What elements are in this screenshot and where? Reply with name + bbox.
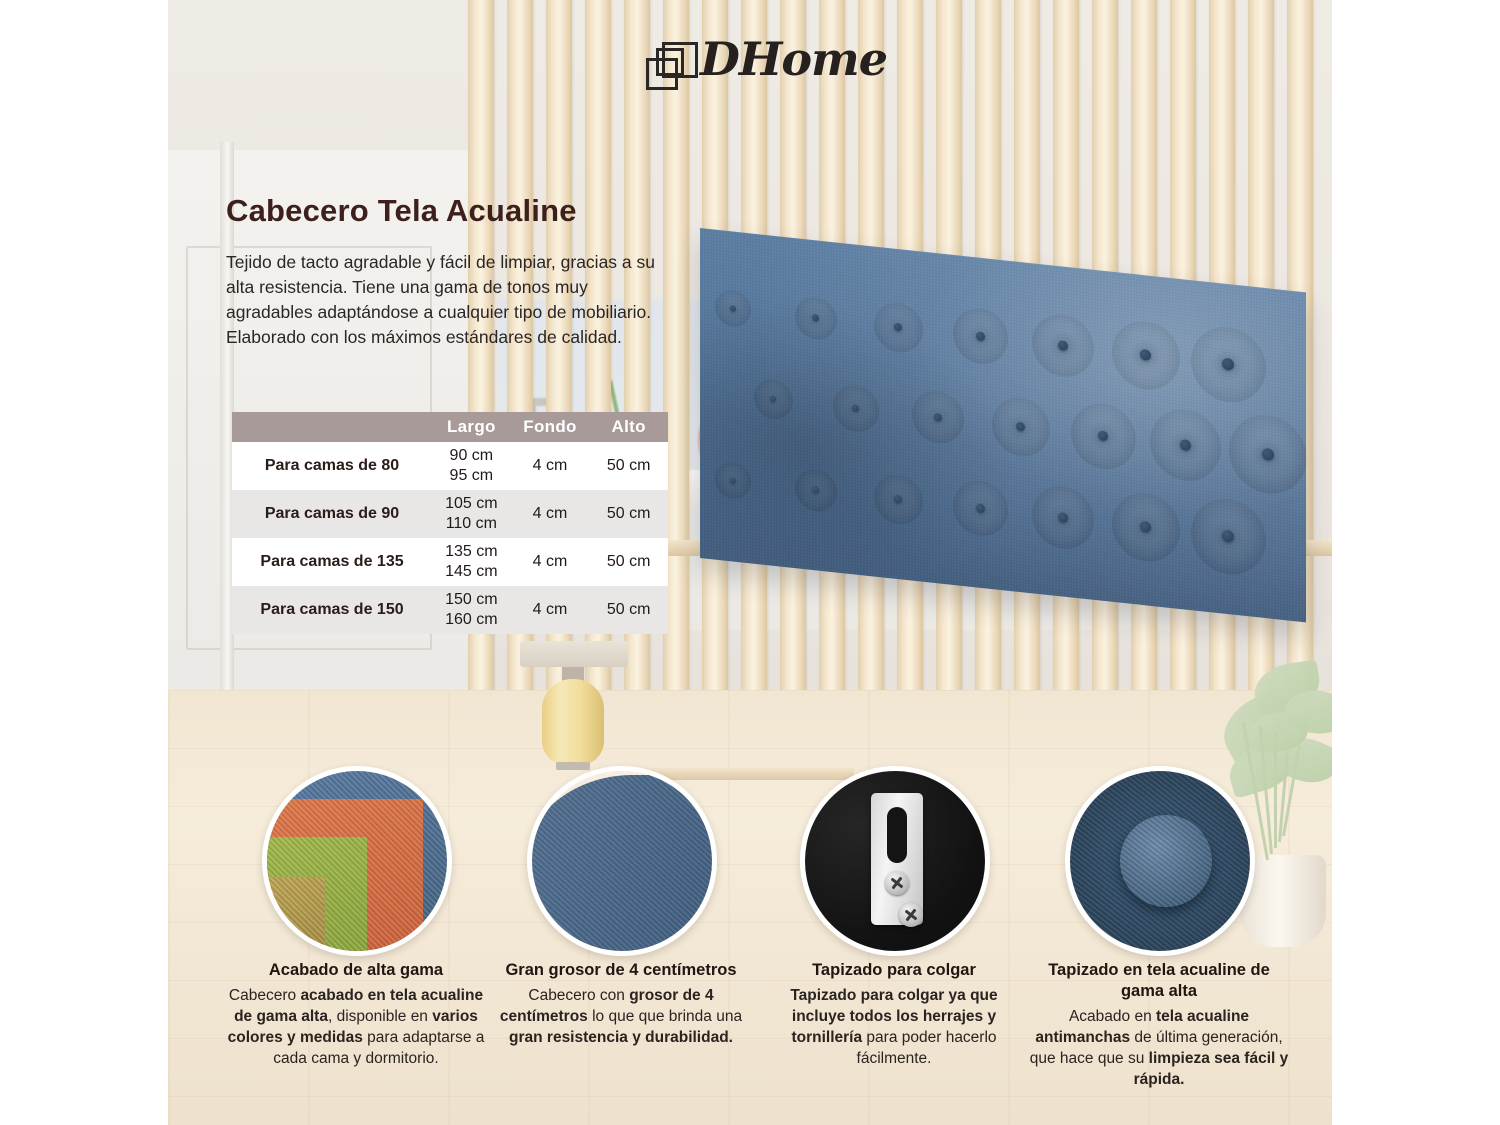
table-header-row: Largo Fondo Alto <box>232 412 668 442</box>
column-header-alto: Alto <box>589 412 668 442</box>
feature-image-3 <box>800 766 990 956</box>
table-row: Para camas de 8090 cm95 cm4 cm50 cm <box>232 442 668 490</box>
feature-body: Acabado en tela acualine antimanchas de … <box>1029 1006 1289 1090</box>
cell-largo: 135 cm145 cm <box>432 542 511 582</box>
cell-alto: 50 cm <box>589 456 668 476</box>
brand-name: DHome <box>700 32 887 86</box>
feature-image-4 <box>1065 766 1255 956</box>
upholstery-button <box>812 314 819 322</box>
upholstery-button <box>1222 357 1234 370</box>
table-row: Para camas de 135135 cm145 cm4 cm50 cm <box>232 538 668 586</box>
cell-alto: 50 cm <box>589 552 668 572</box>
plant-stem <box>1274 732 1277 848</box>
feature-heading: Tapizado para colgar <box>764 960 1024 981</box>
wall-bracket-icon <box>800 766 990 956</box>
feature-caption-4: Tapizado en tela acualine de gama alta A… <box>1029 960 1289 1090</box>
lamp-shade <box>520 641 628 667</box>
upholstery-button <box>730 305 736 312</box>
upholstery-button <box>1058 512 1068 523</box>
table-body: Para camas de 8090 cm95 cm4 cm50 cmPara … <box>232 442 668 634</box>
upholstery-button <box>1058 340 1068 351</box>
column-header-largo: Largo <box>432 412 511 442</box>
row-label: Para camas de 135 <box>232 553 432 571</box>
upholstery-button <box>976 331 985 341</box>
feature-image-2 <box>527 766 717 956</box>
cell-alto: 50 cm <box>589 600 668 620</box>
upholstery-button <box>852 404 859 412</box>
feature-heading: Gran grosor de 4 centímetros <box>491 960 751 981</box>
feature-caption-1: Acabado de alta gama Cabecero acabado en… <box>226 960 486 1069</box>
upholstery-button <box>730 477 736 484</box>
feature-caption-3: Tapizado para colgar Tapizado para colga… <box>764 960 1024 1069</box>
feature-image-1 <box>262 766 452 956</box>
upholstery-button <box>934 413 942 422</box>
cell-fondo: 4 cm <box>511 600 590 620</box>
row-label: Para camas de 90 <box>232 505 432 523</box>
cell-fondo: 4 cm <box>511 456 590 476</box>
cell-largo: 150 cm160 cm <box>432 590 511 630</box>
feature-body: Cabecero acabado en tela acualine de gam… <box>226 985 486 1069</box>
row-label: Para camas de 150 <box>232 601 432 619</box>
header-spacer <box>232 412 432 442</box>
table-row: Para camas de 150150 cm160 cm4 cm50 cm <box>232 586 668 634</box>
fabric-swatches-icon <box>262 766 452 956</box>
feature-body: Cabecero con grosor de 4 centímetros lo … <box>491 985 751 1048</box>
fabric-thickness-icon <box>527 766 717 956</box>
upholstery-button <box>894 495 902 504</box>
cell-fondo: 4 cm <box>511 552 590 572</box>
product-infographic: DHome Cabecero Tela Acualine Tejido de t… <box>0 0 1500 1125</box>
row-label: Para camas de 80 <box>232 457 432 475</box>
overlapping-squares-icon <box>646 42 694 90</box>
upholstery-button <box>1140 521 1151 533</box>
upholstery-button <box>1262 448 1274 461</box>
table-row: Para camas de 90105 cm110 cm4 cm50 cm <box>232 490 668 538</box>
feature-heading: Tapizado en tela acualine de gama alta <box>1029 960 1289 1002</box>
upholstery-button <box>1140 349 1151 361</box>
cell-largo: 105 cm110 cm <box>432 494 511 534</box>
upholstery-button <box>1098 430 1108 441</box>
cell-alto: 50 cm <box>589 504 668 524</box>
fabric-edge <box>527 775 717 956</box>
upholstery-button <box>770 395 776 402</box>
cell-largo: 90 cm95 cm <box>432 446 511 486</box>
upholstery-button <box>894 323 902 332</box>
keyhole-slot <box>887 807 907 863</box>
specifications-table: Largo Fondo Alto Para camas de 8090 cm95… <box>232 412 668 634</box>
column-header-fondo: Fondo <box>511 412 590 442</box>
feature-body: Tapizado para colgar ya que incluye todo… <box>764 985 1024 1069</box>
phillips-screw <box>899 903 923 927</box>
cell-fondo: 4 cm <box>511 504 590 524</box>
fabric-shading <box>700 228 1306 622</box>
tufted-headboard <box>700 228 1306 622</box>
covered-button <box>1120 815 1212 907</box>
upholstery-button <box>1222 529 1234 542</box>
upholstery-button-icon <box>1065 766 1255 956</box>
swatch-olive <box>262 877 325 956</box>
metal-bracket <box>871 793 923 925</box>
upholstery-button <box>1180 439 1191 451</box>
brand-logo: DHome <box>646 34 876 96</box>
upholstery-button <box>812 486 819 494</box>
page-title: Cabecero Tela Acualine <box>226 193 577 229</box>
lamp-body <box>542 679 604 765</box>
product-description: Tejido de tacto agradable y fácil de lim… <box>226 250 678 350</box>
feature-caption-2: Gran grosor de 4 centímetros Cabecero co… <box>491 960 751 1048</box>
headboard-product-image <box>700 228 1306 638</box>
phillips-screw <box>885 871 909 895</box>
feature-heading: Acabado de alta gama <box>226 960 486 981</box>
upholstery-button <box>1016 422 1025 432</box>
upholstery-button <box>976 503 985 513</box>
